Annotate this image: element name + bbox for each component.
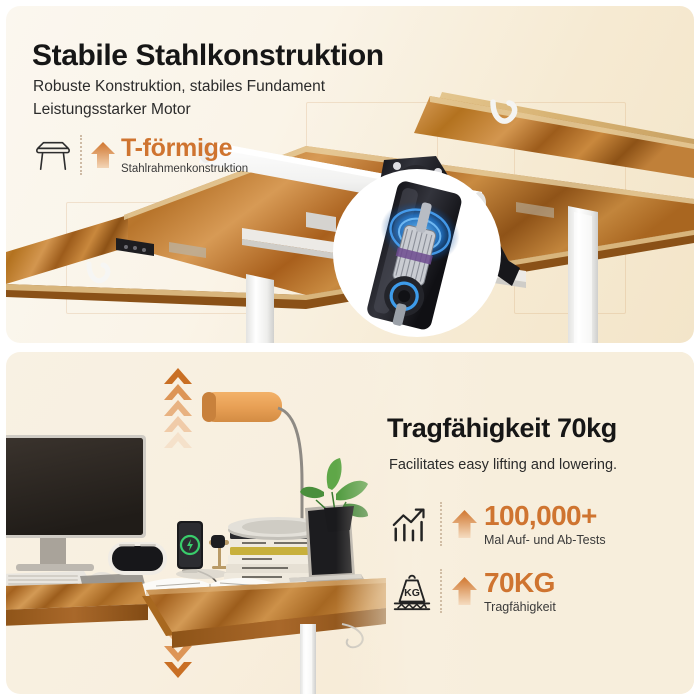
raise-direction-chevrons: [164, 368, 192, 448]
up-arrow-icon: [90, 140, 116, 170]
stat-divider: [440, 502, 442, 546]
bottom-panel-subtitle: Facilitates easy lifting and lowering.: [389, 457, 617, 473]
stat-text-block: 100,000+ Mal Auf- und Ab-Tests: [484, 502, 606, 547]
rear-desktop-board: [414, 92, 694, 178]
top-panel-subtitle-1: Robuste Konstruktion, stabiles Fundament: [33, 78, 325, 96]
product-infographic: Stabile Stahlkonstruktion Robuste Konstr…: [0, 0, 700, 700]
bottom-panel-heading: Tragfähigkeit 70kg: [387, 413, 617, 444]
top-feature-panel: Stabile Stahlkonstruktion Robuste Konstr…: [6, 6, 694, 343]
top-panel-subtitle-2: Leistungsstarker Motor: [33, 101, 191, 119]
watch-stand-base: [176, 569, 228, 579]
motor-cutaway-magnifier: [333, 169, 502, 338]
desk-lamp: [202, 378, 315, 536]
top-panel-heading: Stabile Stahlkonstruktion: [32, 39, 384, 73]
stat-row-capacity: KG 70KG Tragfähigkeit: [390, 567, 556, 615]
desk-leg: [300, 624, 316, 694]
stat-divider: [440, 569, 442, 613]
up-arrow-icon: [451, 508, 478, 540]
desk-leg-left: [246, 274, 274, 343]
stat-row-cycles: 100,000+ Mal Auf- und Ab-Tests: [390, 500, 606, 548]
up-arrow-icon: [451, 575, 478, 607]
svg-text:KG: KG: [404, 587, 420, 599]
watch-stand: [209, 535, 229, 569]
stat-value: 100,000+: [484, 502, 606, 530]
cable-hook-left: [89, 264, 108, 281]
kg-weight-icon: KG: [390, 567, 434, 615]
desktop-surface: [6, 578, 386, 648]
stat-label: Mal Auf- und Ab-Tests: [484, 533, 606, 547]
growth-chart-icon: [390, 500, 434, 548]
speaker: [108, 542, 167, 575]
feature-title: T-förmige: [121, 135, 248, 161]
stat-value: 70KG: [484, 569, 556, 597]
desk-leg-right: [568, 206, 598, 343]
feature-caption: Stahlrahmenkonstruktion: [121, 163, 248, 175]
feature-text-block: T-förmige Stahlrahmenkonstruktion: [121, 135, 248, 175]
feature-divider: [80, 135, 82, 175]
stat-label: Tragfähigkeit: [484, 600, 556, 614]
stat-text-block: 70KG Tragfähigkeit: [484, 569, 556, 614]
desk-table-icon: [30, 134, 76, 176]
t-frame-feature-row: T-förmige Stahlrahmenkonstruktion: [30, 134, 248, 176]
